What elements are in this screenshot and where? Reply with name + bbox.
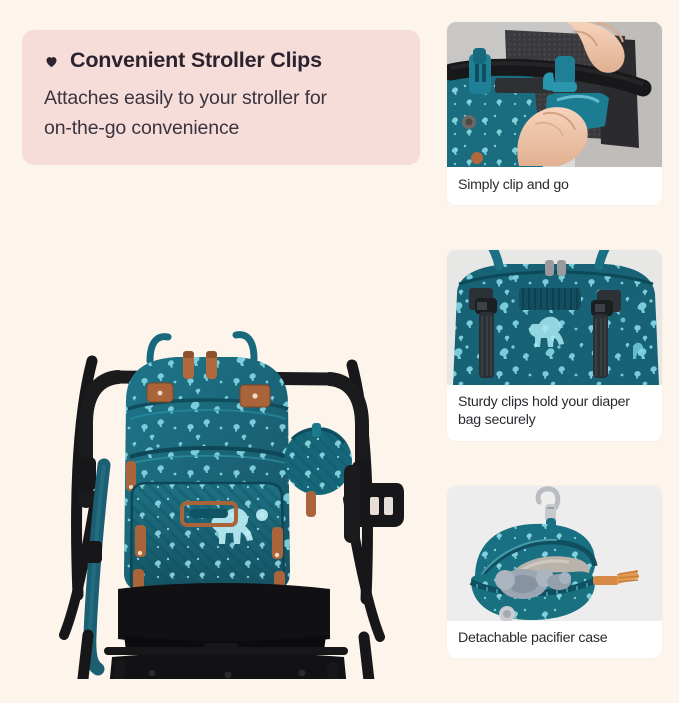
pacifier-case-photo xyxy=(447,486,662,621)
feature-card-pacifier-case[interactable]: Detachable pacifier case xyxy=(447,486,662,658)
infographic-page: Convenient Stroller Clips Attaches easil… xyxy=(0,0,679,679)
feature-card-simply-clip-and-go[interactable]: Simply clip and go xyxy=(447,22,662,205)
sturdy-clips-photo xyxy=(447,250,662,385)
callout-title-row: Convenient Stroller Clips xyxy=(44,48,398,73)
feature-card-sturdy-clips[interactable]: Sturdy clips hold your diaper bag secure… xyxy=(447,250,662,440)
clip-and-go-photo xyxy=(447,22,662,167)
hero-product-image xyxy=(0,165,440,679)
callout-subtitle: Attaches easily to your stroller for on‑… xyxy=(44,84,398,143)
card-caption: Sturdy clips hold your diaper bag secure… xyxy=(447,385,662,440)
heart-icon xyxy=(44,54,59,69)
feature-card-list: Simply clip and go xyxy=(447,22,662,703)
card-caption: Detachable pacifier case xyxy=(447,621,662,658)
card-caption: Simply clip and go xyxy=(447,167,662,205)
callout-title: Convenient Stroller Clips xyxy=(70,48,322,73)
feature-callout: Convenient Stroller Clips Attaches easil… xyxy=(22,30,420,165)
